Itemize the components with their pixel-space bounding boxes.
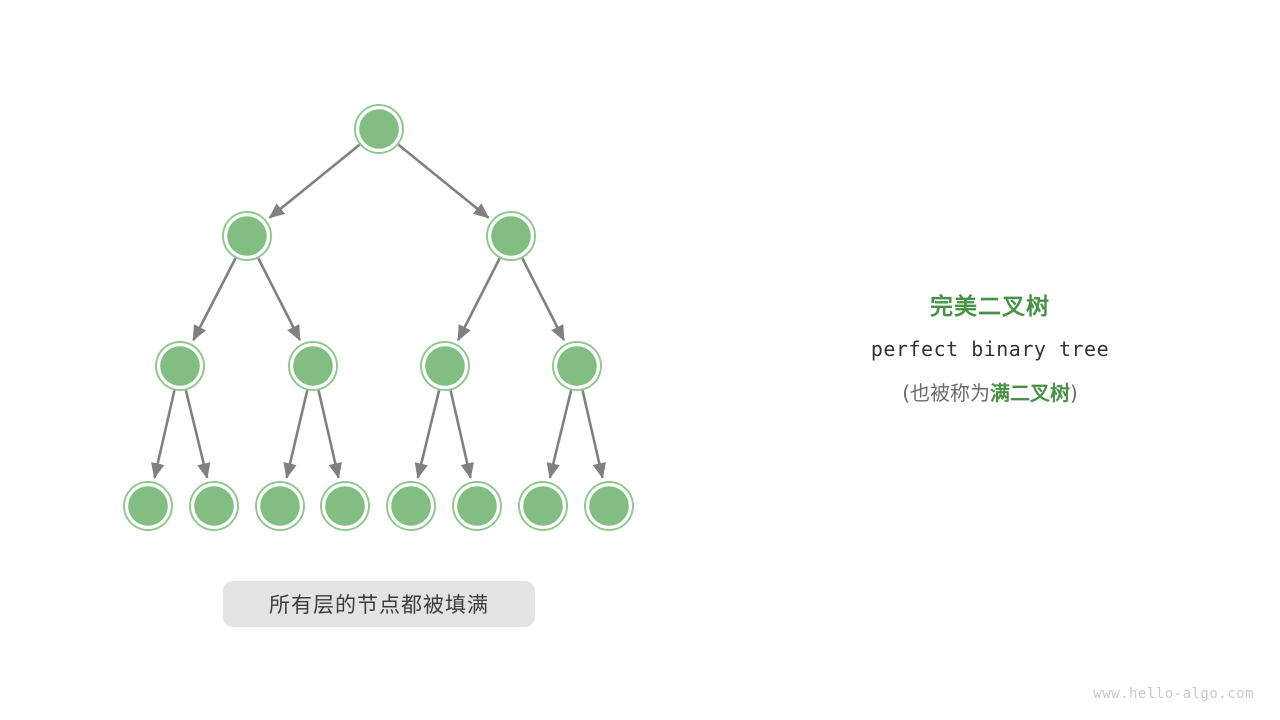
- legend-alias: (也被称为满二叉树): [800, 377, 1180, 406]
- tree-edge: [193, 258, 235, 340]
- tree-edge: [583, 390, 603, 477]
- node-layer: [124, 105, 633, 530]
- tree-edge: [418, 390, 439, 478]
- tree-edge: [451, 390, 471, 477]
- tree-edge: [154, 390, 174, 477]
- tree-node[interactable]: [321, 482, 369, 530]
- tree-edge: [458, 258, 500, 340]
- tree-node[interactable]: [124, 482, 172, 530]
- edge-layer: [154, 145, 602, 478]
- tree-edge: [186, 390, 207, 478]
- node-disc: [391, 486, 431, 526]
- tree-node[interactable]: [256, 482, 304, 530]
- node-disc: [457, 486, 497, 526]
- legend-alias-prefix: (也被称为: [902, 381, 990, 405]
- tree-edge: [270, 145, 360, 218]
- tree-node[interactable]: [585, 482, 633, 530]
- node-disc: [128, 486, 168, 526]
- legend-panel: 完美二叉树 perfect binary tree (也被称为满二叉树): [800, 292, 1180, 406]
- tree-node[interactable]: [421, 342, 469, 390]
- node-disc: [293, 346, 333, 386]
- tree-node[interactable]: [453, 482, 501, 530]
- node-disc: [589, 486, 629, 526]
- node-disc: [425, 346, 465, 386]
- diagram-canvas: 所有层的节点都被填满 完美二叉树 perfect binary tree (也被…: [0, 0, 1280, 720]
- tree-node[interactable]: [223, 212, 271, 260]
- node-disc: [491, 216, 531, 256]
- tree-edge: [522, 258, 564, 340]
- tree-node[interactable]: [190, 482, 238, 530]
- caption-badge: 所有层的节点都被填满: [223, 581, 535, 627]
- tree-edge: [258, 258, 300, 340]
- tree-node[interactable]: [519, 482, 567, 530]
- tree-edge: [287, 390, 308, 477]
- tree-node[interactable]: [156, 342, 204, 390]
- tree-node[interactable]: [553, 342, 601, 390]
- node-disc: [194, 486, 234, 526]
- node-disc: [325, 486, 365, 526]
- legend-title: 完美二叉树: [800, 292, 1180, 323]
- node-disc: [260, 486, 300, 526]
- node-disc: [557, 346, 597, 386]
- tree-node[interactable]: [387, 482, 435, 530]
- tree-edge: [398, 145, 488, 218]
- tree-edge: [319, 390, 339, 477]
- node-disc: [160, 346, 200, 386]
- legend-subtitle: perfect binary tree: [800, 337, 1180, 361]
- watermark: www.hello-algo.com: [1093, 686, 1254, 702]
- node-disc: [227, 216, 267, 256]
- tree-node[interactable]: [487, 212, 535, 260]
- tree-node[interactable]: [355, 105, 403, 153]
- caption-text: 所有层的节点都被填满: [269, 589, 489, 619]
- tree-edge: [550, 390, 571, 478]
- legend-alias-strong: 满二叉树: [990, 381, 1070, 405]
- node-disc: [523, 486, 563, 526]
- tree-node[interactable]: [289, 342, 337, 390]
- node-disc: [359, 109, 399, 149]
- legend-alias-suffix: ): [1070, 381, 1078, 405]
